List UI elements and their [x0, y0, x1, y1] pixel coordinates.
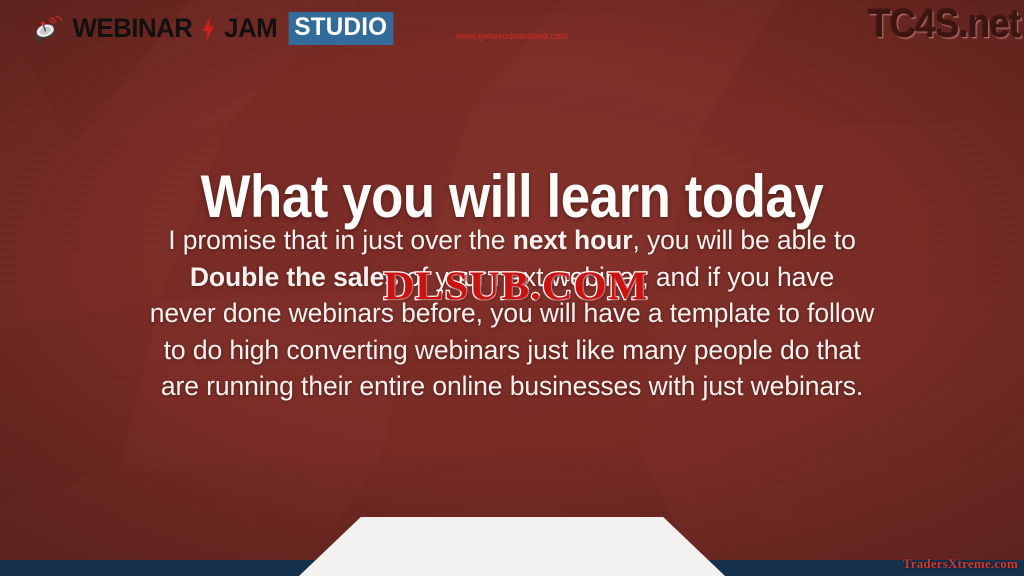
body-run: never done webinars before, you will hav…	[150, 298, 874, 328]
slide-title: What you will learn today	[61, 164, 962, 230]
body-run: are running their entire online business…	[161, 371, 863, 401]
body-line: Double the sales of your next webinar, a…	[72, 259, 952, 296]
presentation-slide: www.getwsodownload.com TC4S.net What you…	[0, 0, 1024, 576]
tradersxtreme-watermark: TradersXtreme.com	[903, 556, 1018, 572]
body-emphasis: Double the sales	[190, 262, 399, 292]
logo-word-jam: JAM	[225, 13, 278, 44]
body-line: never done webinars before, you will hav…	[72, 295, 952, 332]
tc4s-brand-watermark: TC4S.net	[868, 2, 1020, 47]
body-line: to do high converting webinars just like…	[72, 332, 952, 369]
body-emphasis: next hour	[513, 225, 633, 255]
satellite-dish-icon	[32, 15, 62, 43]
webinarjam-logo-banner	[299, 517, 725, 576]
logo-badge-studio: STUDIO	[288, 12, 392, 45]
body-line: are running their entire online business…	[72, 368, 952, 405]
body-line: I promise that in just over the next hou…	[72, 222, 952, 259]
logo-word-webinar: WEBINAR	[72, 13, 192, 44]
slide-body-text: I promise that in just over the next hou…	[72, 222, 952, 405]
body-run: to do high converting webinars just like…	[164, 335, 861, 365]
body-run: I promise that in just over the	[168, 225, 512, 255]
webinarjam-logo: WEBINAR JAM STUDIO	[0, 12, 426, 45]
lightning-bolt-icon	[202, 16, 215, 42]
body-run: , you will be able to	[632, 225, 855, 255]
body-run: of your next webinar, and if you have	[399, 262, 834, 292]
